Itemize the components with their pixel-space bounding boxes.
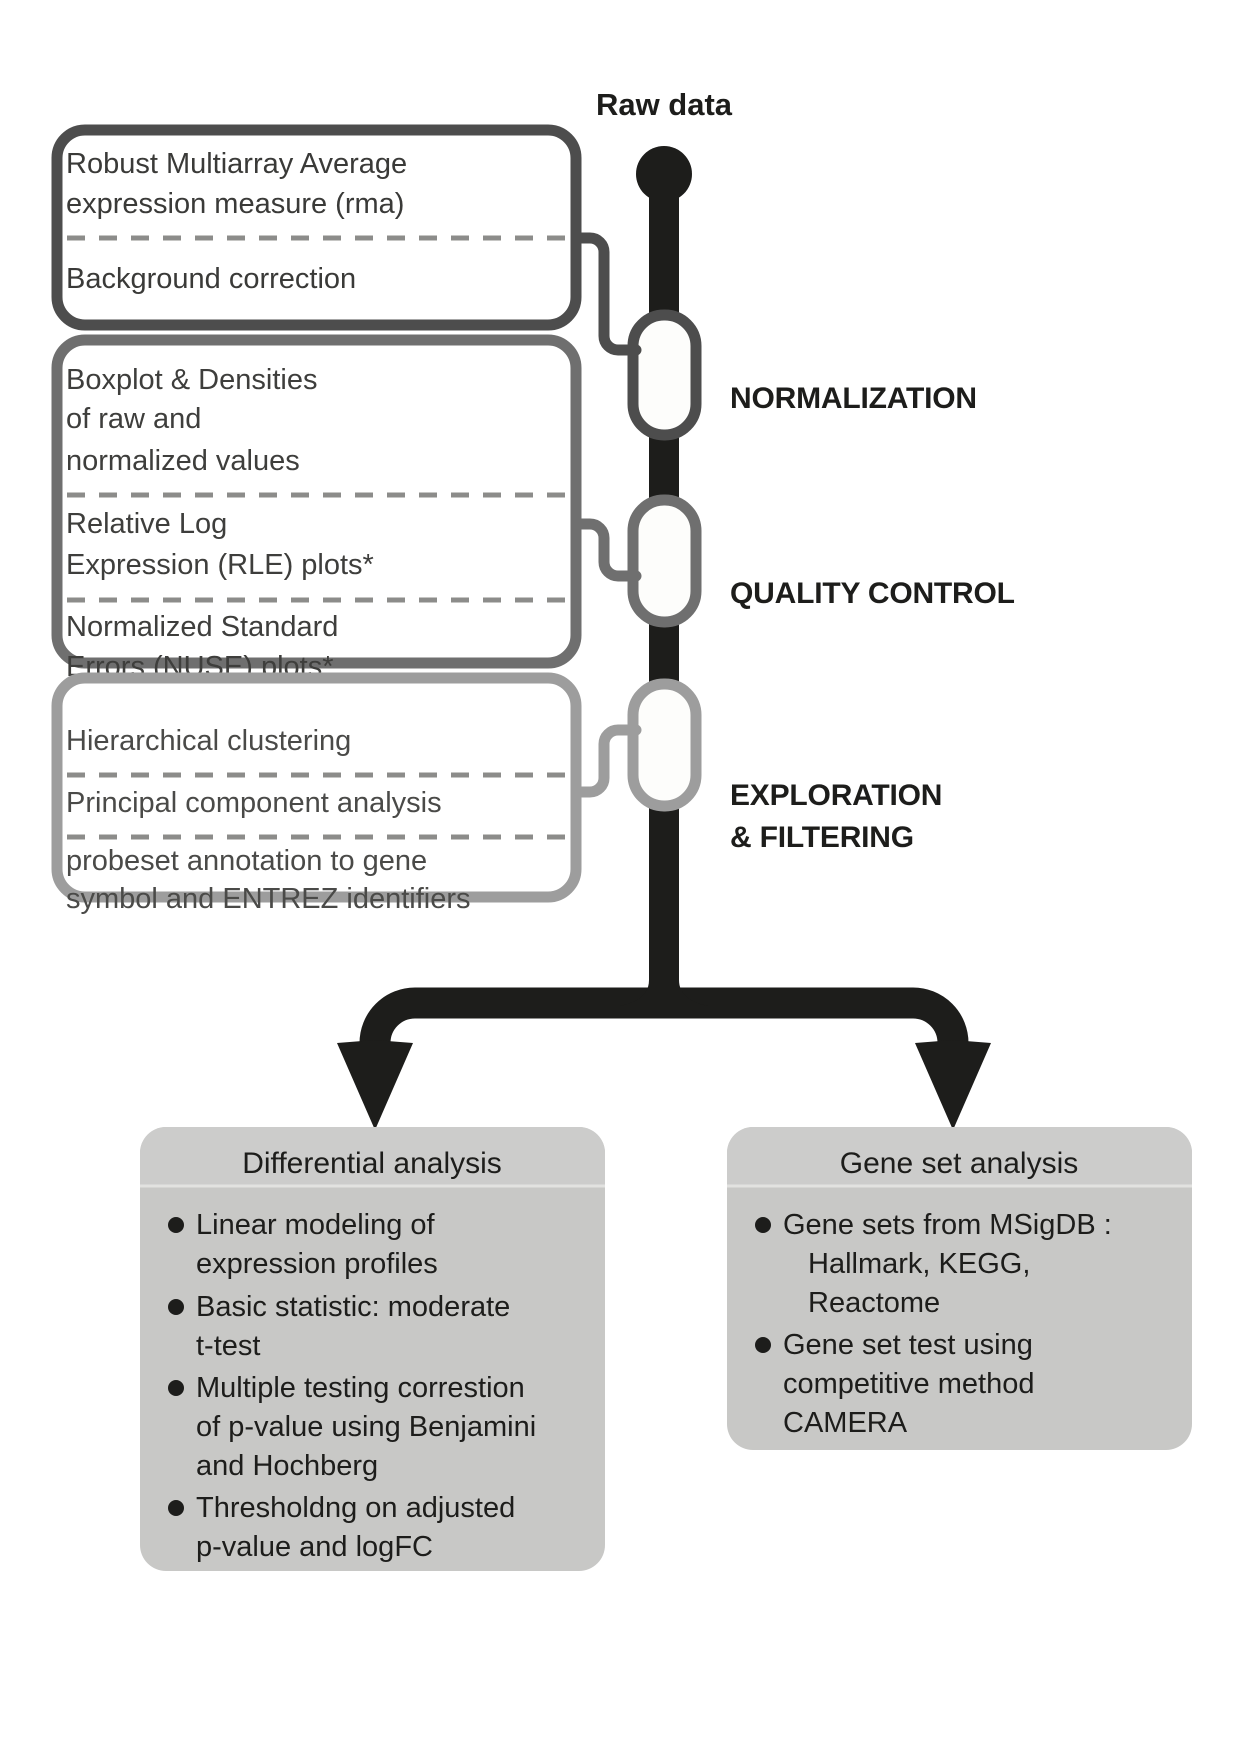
connector-quality-control xyxy=(576,524,636,576)
stage-label-normalization: NORMALIZATION xyxy=(730,382,977,415)
step-line: symbol and ENTREZ identifiers xyxy=(66,883,471,915)
stage-card-quality-control: Boxplot & Densities of raw and normalize… xyxy=(57,340,576,683)
step-line: Robust Multiarray Average xyxy=(66,148,407,180)
bullet-line: competitive method xyxy=(783,1368,1034,1400)
spine-segment-4 xyxy=(649,802,679,906)
connector-exploration-filtering xyxy=(576,730,636,792)
step-line: of raw and xyxy=(66,403,201,435)
bullet-line: expression profiles xyxy=(196,1248,438,1280)
stage-pill-quality-control xyxy=(633,500,696,622)
bullet-line: Reactome xyxy=(808,1287,940,1319)
stage-card-exploration-filtering: Hierarchical clustering Principal compon… xyxy=(57,678,576,915)
bullet-dot xyxy=(755,1337,771,1353)
step-line: Boxplot & Densities xyxy=(66,364,317,396)
step-line: Principal component analysis xyxy=(66,787,442,819)
spine-segment-1 xyxy=(649,174,679,319)
stage-card-normalization: Robust Multiarray Average expression mea… xyxy=(57,130,576,325)
panel-title: Gene set analysis xyxy=(840,1147,1078,1180)
stage-label-exploration: EXPLORATION xyxy=(730,779,942,812)
panel-title: Differential analysis xyxy=(242,1147,502,1180)
step-line: probeset annotation to gene xyxy=(66,845,427,877)
bullet-line: Linear modeling of xyxy=(196,1209,436,1241)
spine-segment-2 xyxy=(649,430,679,505)
bullet-line: p-value and logFC xyxy=(196,1531,433,1563)
output-panel-gene-set-analysis: Gene set analysis Gene sets from MSigDB … xyxy=(727,1127,1192,1450)
bullet-line: CAMERA xyxy=(783,1407,908,1439)
bullet-line: Basic statistic: moderate xyxy=(196,1291,510,1323)
step-line: Relative Log xyxy=(66,508,227,540)
bullet-dot xyxy=(755,1217,771,1233)
step-line: Background correction xyxy=(66,263,356,295)
step-line: expression measure (rma) xyxy=(66,188,404,220)
branch-bar xyxy=(375,1003,953,1043)
stage-label-filtering: & FILTERING xyxy=(730,821,914,854)
bullet-line: Thresholdng on adjusted xyxy=(196,1492,515,1524)
step-line: Hierarchical clustering xyxy=(66,725,351,757)
bullet-line: Gene sets from MSigDB : xyxy=(783,1209,1112,1241)
bullet-line: of p-value using Benjamini xyxy=(196,1411,536,1443)
spine-segment-3 xyxy=(649,618,679,688)
step-line: Normalized Standard xyxy=(66,611,338,643)
arrowhead-right xyxy=(915,1035,991,1130)
bullet-line: and Hochberg xyxy=(196,1450,378,1482)
bullet-dot xyxy=(168,1500,184,1516)
page-title: Raw data xyxy=(596,87,733,122)
branch-arrows xyxy=(337,906,991,1130)
bullet-dot xyxy=(168,1217,184,1233)
bullet-line: Gene set test using xyxy=(783,1329,1033,1361)
stage-pill-normalization xyxy=(633,315,696,435)
stage-pill-exploration-filtering xyxy=(633,684,696,806)
bullet-dot xyxy=(168,1380,184,1396)
arrowhead-left xyxy=(337,1035,413,1130)
stage-label-quality-control: QUALITY CONTROL xyxy=(730,577,1015,610)
step-line: Expression (RLE) plots* xyxy=(66,549,374,581)
analysis-workflow-diagram: Robust Multiarray Average expression mea… xyxy=(0,0,1240,1753)
connector-normalization xyxy=(576,238,636,350)
bullet-line: Multiple testing correstion xyxy=(196,1372,525,1404)
step-line: normalized values xyxy=(66,445,300,477)
bullet-line: t-test xyxy=(196,1330,260,1362)
bullet-line: Hallmark, KEGG, xyxy=(808,1248,1030,1280)
bullet-dot xyxy=(168,1299,184,1315)
output-panel-differential-analysis: Differential analysis Linear modeling of… xyxy=(140,1127,605,1571)
